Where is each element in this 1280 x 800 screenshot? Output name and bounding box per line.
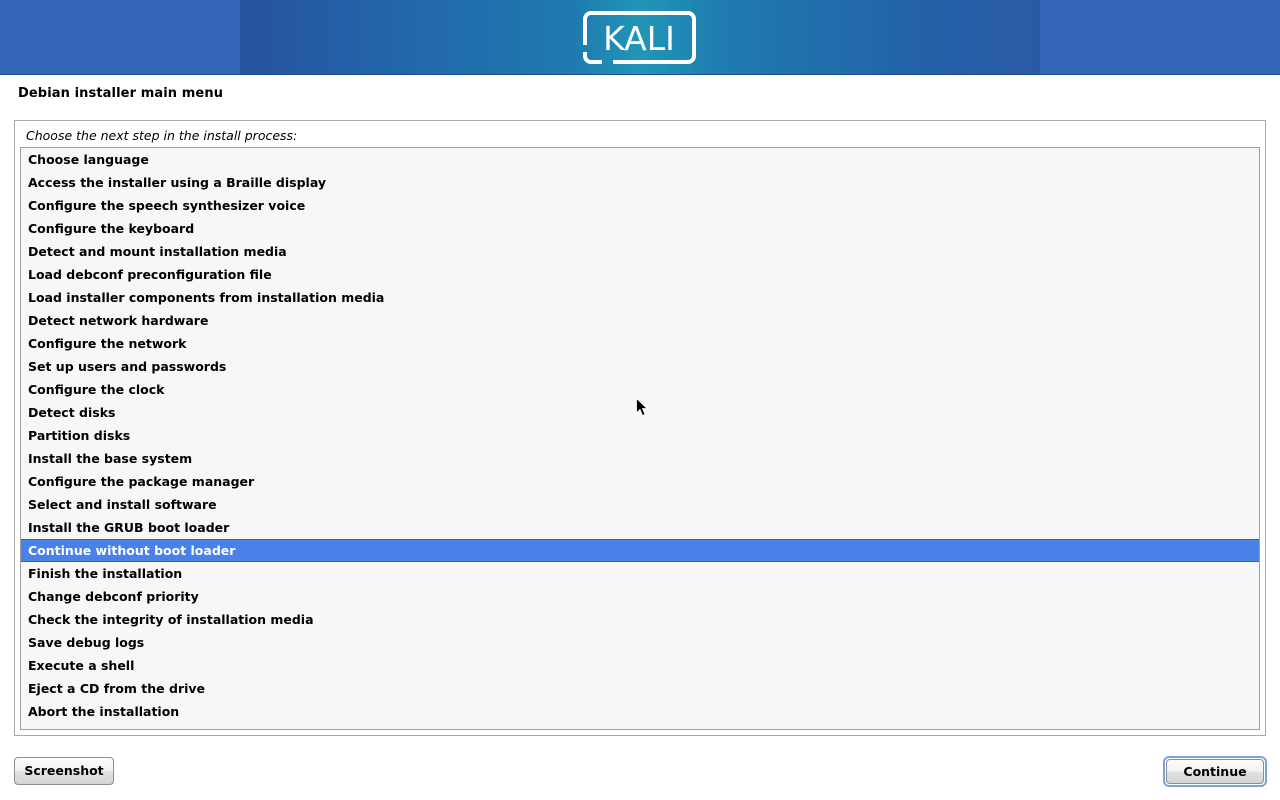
svg-text:KALI: KALI xyxy=(603,19,675,58)
list-item[interactable]: Finish the installation xyxy=(21,562,1259,585)
list-item[interactable]: Execute a shell xyxy=(21,654,1259,677)
installer-step-list[interactable]: Choose languageAccess the installer usin… xyxy=(20,147,1260,730)
list-item[interactable]: Set up users and passwords xyxy=(21,355,1259,378)
list-item[interactable]: Continue without boot loader xyxy=(21,539,1259,562)
list-item[interactable]: Choose language xyxy=(21,148,1259,171)
list-item[interactable]: Configure the clock xyxy=(21,378,1259,401)
list-item[interactable]: Load installer components from installat… xyxy=(21,286,1259,309)
list-item[interactable]: Configure the package manager xyxy=(21,470,1259,493)
continue-button[interactable]: Continue xyxy=(1166,759,1264,784)
list-item[interactable]: Select and install software xyxy=(21,493,1259,516)
list-item[interactable]: Save debug logs xyxy=(21,631,1259,654)
list-item[interactable]: Access the installer using a Braille dis… xyxy=(21,171,1259,194)
list-item[interactable]: Configure the speech synthesizer voice xyxy=(21,194,1259,217)
list-item[interactable]: Detect network hardware xyxy=(21,309,1259,332)
banner-bottom-rule xyxy=(0,74,1280,75)
list-item[interactable]: Partition disks xyxy=(21,424,1259,447)
list-item[interactable]: Eject a CD from the drive xyxy=(21,677,1259,700)
question-label: Choose the next step in the install proc… xyxy=(26,128,297,143)
list-item[interactable]: Abort the installation xyxy=(21,700,1259,723)
question-frame: Choose the next step in the install proc… xyxy=(14,120,1266,736)
list-item[interactable]: Check the integrity of installation medi… xyxy=(21,608,1259,631)
screenshot-button[interactable]: Screenshot xyxy=(14,757,114,785)
page-title: Debian installer main menu xyxy=(18,86,223,101)
list-item[interactable]: Load debconf preconfiguration file xyxy=(21,263,1259,286)
list-item[interactable]: Configure the network xyxy=(21,332,1259,355)
list-item[interactable]: Install the GRUB boot loader xyxy=(21,516,1259,539)
list-item[interactable]: Install the base system xyxy=(21,447,1259,470)
installer-window: KALI Debian installer main menu Choose t… xyxy=(0,0,1280,800)
kali-banner: KALI xyxy=(0,0,1280,75)
list-item[interactable]: Change debconf priority xyxy=(21,585,1259,608)
kali-logo-mark: KALI xyxy=(583,11,696,64)
list-item[interactable]: Detect disks xyxy=(21,401,1259,424)
list-item[interactable]: Configure the keyboard xyxy=(21,217,1259,240)
list-item[interactable]: Detect and mount installation media xyxy=(21,240,1259,263)
installer-step-list-body: Choose languageAccess the installer usin… xyxy=(21,148,1259,723)
